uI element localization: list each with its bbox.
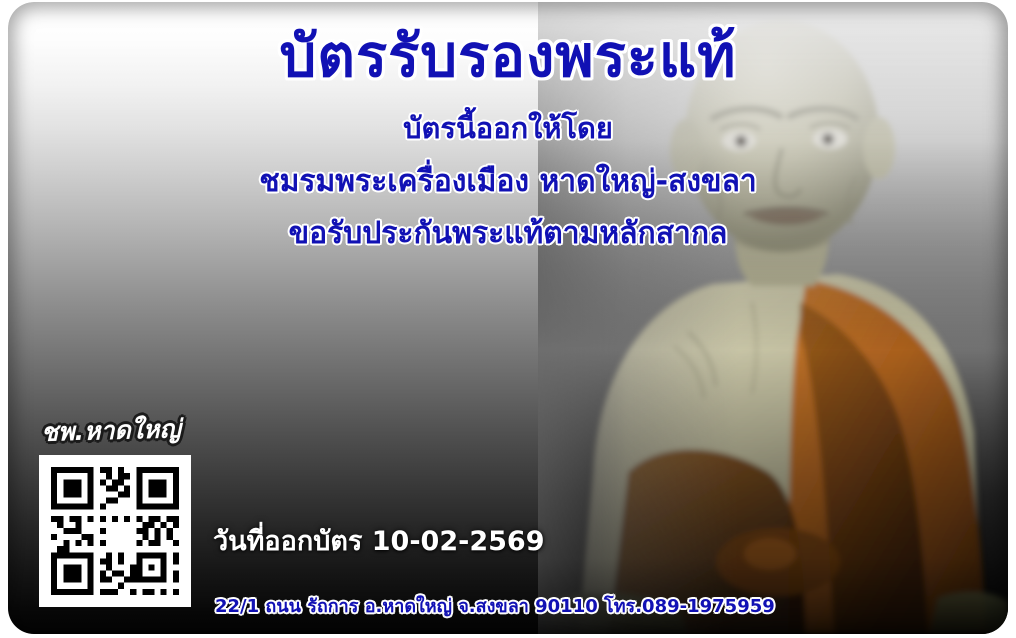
certificate-card-frame: ชพ.หาดใหญ่ bbox=[0, 0, 1016, 638]
qr-code-icon[interactable] bbox=[39, 455, 191, 607]
certificate-card: ชพ.หาดใหญ่ bbox=[8, 2, 1008, 634]
monk-portrait-image bbox=[538, 2, 1008, 634]
issue-date-label: วันที่ออกบัตร 10-02-2569 bbox=[213, 519, 544, 562]
handwritten-signature-stamp: ชพ.หาดใหญ่ bbox=[41, 409, 182, 453]
